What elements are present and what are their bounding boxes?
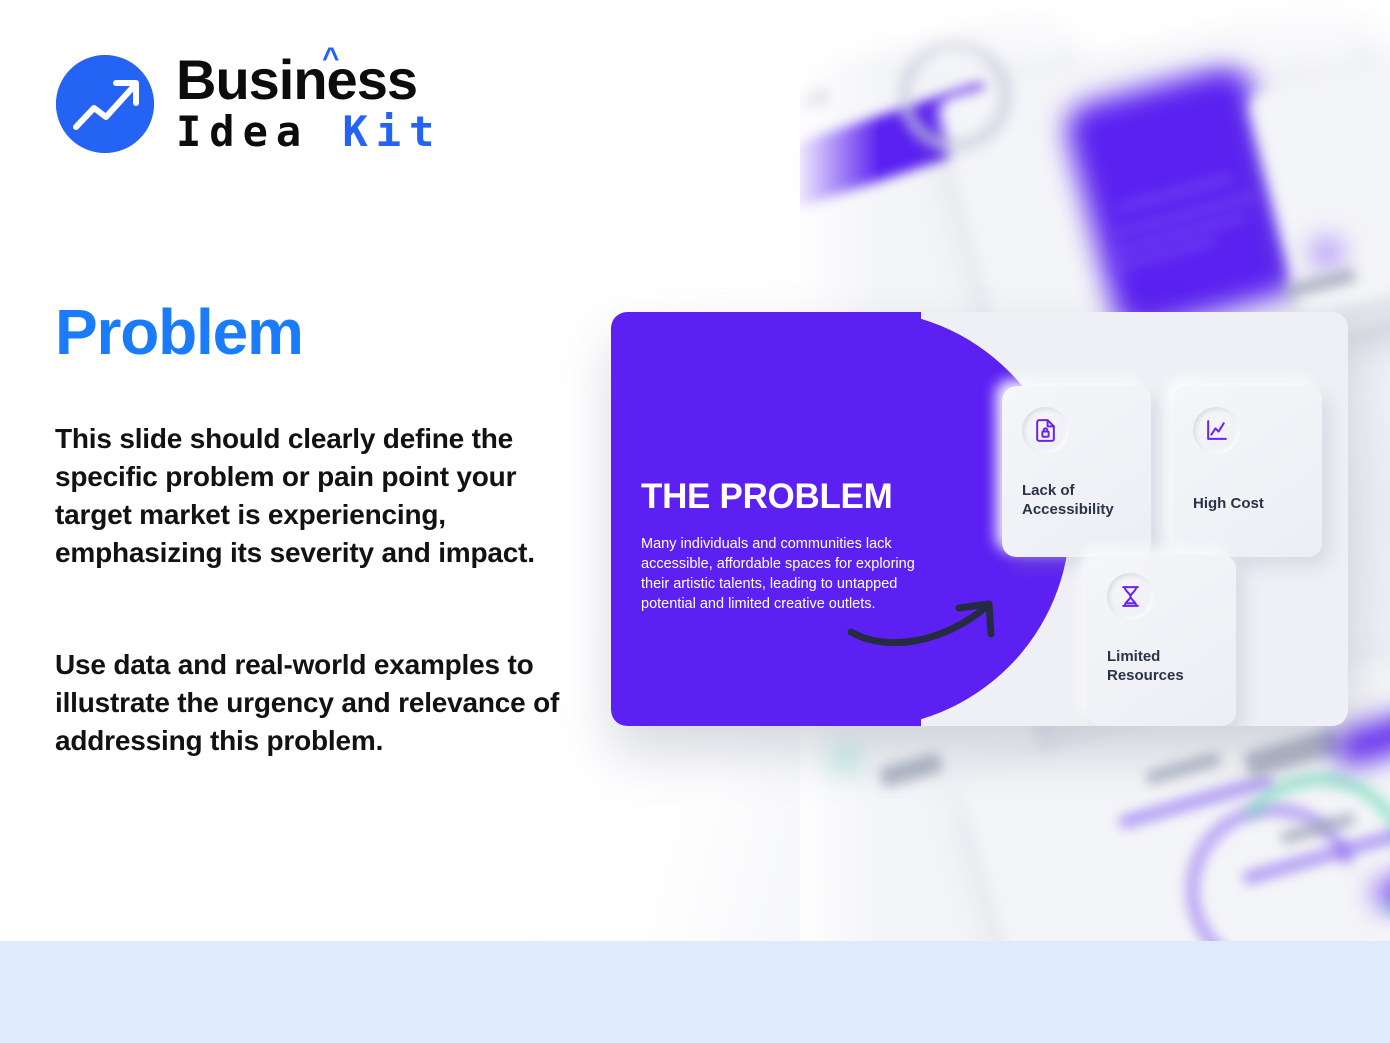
brand-logo[interactable]: Business ^ Idea Kit — [56, 53, 442, 155]
footer-strip — [0, 941, 1390, 1043]
feature-card-lack-of-accessibility[interactable]: Lack of Accessibility — [1002, 386, 1151, 557]
feature-card-high-cost[interactable]: High Cost — [1173, 386, 1322, 557]
slide-preview-title: THE PROBLEM — [641, 477, 892, 517]
feature-card-label: High Cost — [1193, 494, 1313, 513]
description-paragraph-1: This slide should clearly define the spe… — [55, 420, 565, 572]
feature-card-limited-resources[interactable]: Limited Resources — [1087, 555, 1236, 726]
circumflex-accent-icon: ^ — [322, 44, 339, 73]
brand-name-top-text: Business — [176, 48, 417, 111]
feature-card-label: Limited Resources — [1107, 647, 1227, 685]
description-paragraph-2: Use data and real-world examples to illu… — [55, 646, 565, 760]
brand-name-bottom-primary: Idea — [176, 107, 342, 156]
page-title: Problem — [55, 295, 303, 369]
brand-name-top: Business ^ — [176, 53, 442, 108]
brand-wordmark: Business ^ Idea Kit — [176, 53, 442, 155]
slide-page: Business ^ Idea Kit Problem This slide s… — [0, 0, 1390, 1043]
curved-arrow-up-right-icon — [847, 590, 1007, 655]
brand-name-bottom-accent: Kit — [342, 107, 442, 156]
feature-card-label: Lack of Accessibility — [1022, 481, 1142, 519]
trending-up-arrow-icon — [56, 55, 154, 153]
brand-name-bottom: Idea Kit — [176, 108, 442, 155]
document-lock-icon — [1022, 407, 1069, 454]
hourglass-icon — [1107, 573, 1154, 620]
line-chart-icon — [1193, 407, 1240, 454]
slide-preview-card[interactable]: THE PROBLEM Many individuals and communi… — [611, 312, 1348, 726]
